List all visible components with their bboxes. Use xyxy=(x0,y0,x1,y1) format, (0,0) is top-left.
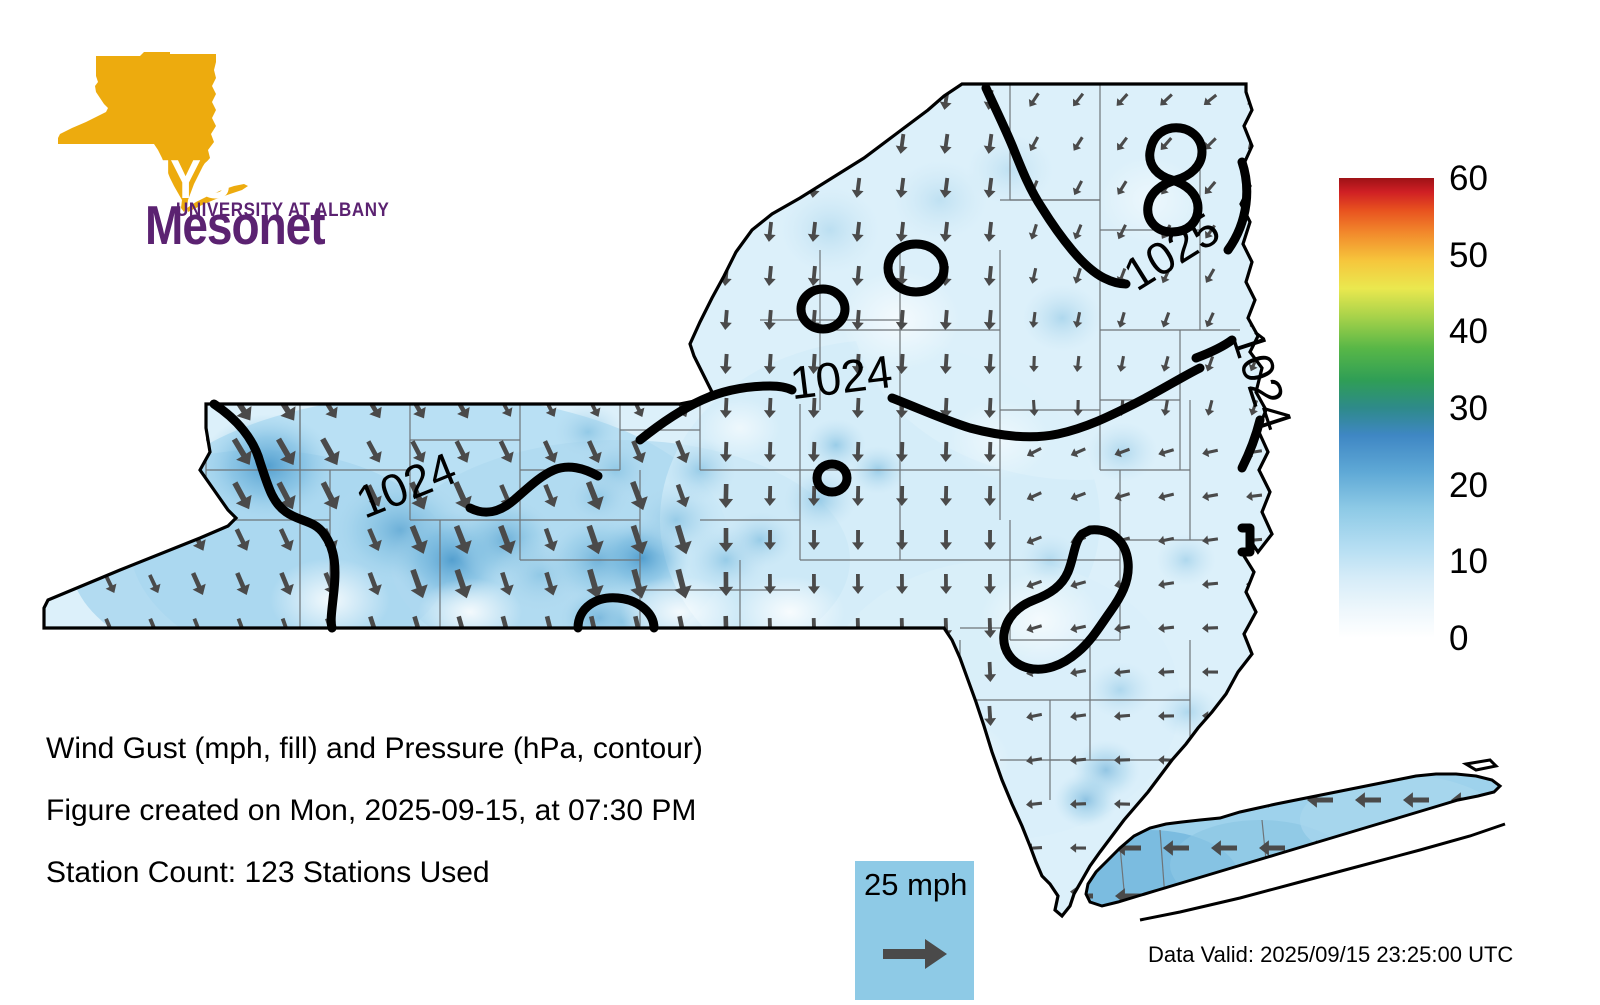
wind-vector xyxy=(940,662,952,682)
wind-vector xyxy=(1158,799,1174,809)
wind-vector xyxy=(234,311,248,328)
wind-vector xyxy=(984,838,996,858)
wind-vector xyxy=(675,660,689,684)
wind-vector xyxy=(498,136,513,152)
wind-vector xyxy=(543,311,556,329)
wind-vector xyxy=(720,662,732,682)
wind-vector xyxy=(984,794,996,814)
wind-vector xyxy=(146,355,160,372)
wind-vector xyxy=(764,662,776,682)
wind-vector xyxy=(542,179,557,195)
caption-title: Wind Gust (mph, fill) and Pressure (hPa,… xyxy=(46,718,946,780)
wind-vector xyxy=(367,355,380,373)
wind-vector xyxy=(146,528,161,550)
colorbar-tick-labels: 6050403020100 xyxy=(1449,178,1539,638)
wind-vector xyxy=(587,311,600,329)
wind-vector xyxy=(366,267,380,284)
wind-vector xyxy=(146,441,162,462)
wind-vector xyxy=(410,267,424,284)
wind-vector xyxy=(631,267,644,285)
wind-vector xyxy=(720,90,732,110)
wind-vector xyxy=(497,92,513,107)
wind-vector xyxy=(322,267,336,284)
wind-vector xyxy=(1211,792,1237,808)
wind-vector xyxy=(105,662,117,681)
wind-vector xyxy=(454,136,470,152)
wind-vector xyxy=(674,91,689,107)
wind-vector xyxy=(501,662,513,682)
wind-legend-label: 25 mph xyxy=(864,867,967,903)
wind-vector xyxy=(1026,887,1042,897)
wind-vector xyxy=(1355,840,1381,856)
wind-vector xyxy=(456,660,470,684)
data-valid-timestamp: Data Valid: 2025/09/15 23:25:00 UTC xyxy=(1148,942,1513,968)
wind-vector xyxy=(321,353,337,374)
wind-vector xyxy=(103,486,116,504)
wind-vector xyxy=(193,662,205,682)
wind-vector xyxy=(808,90,820,110)
wind-vector xyxy=(1246,667,1262,677)
colorbar-tick-60: 60 xyxy=(1449,161,1488,196)
wind-vector xyxy=(410,136,426,151)
colorbar-tick-50: 50 xyxy=(1449,238,1488,273)
wind-vector xyxy=(499,267,513,284)
wind-gust-colorbar xyxy=(1339,178,1434,638)
wind-vector xyxy=(984,882,996,902)
wind-vector xyxy=(1403,888,1429,904)
wind-vector xyxy=(189,397,205,418)
wind-vector xyxy=(234,267,249,283)
wind-vector xyxy=(102,268,117,284)
wind-vector xyxy=(190,311,204,328)
wind-vector xyxy=(586,92,602,108)
wind-vector xyxy=(367,311,381,328)
wind-vector xyxy=(896,662,908,682)
wind-vector xyxy=(630,179,644,196)
wind-vector xyxy=(764,178,776,198)
wind-vector xyxy=(674,179,688,196)
wind-vector xyxy=(542,92,558,107)
wind-vector xyxy=(189,353,206,374)
wind-vector xyxy=(455,311,469,329)
wind-vector xyxy=(1451,840,1477,856)
wind-vector xyxy=(499,311,512,329)
colorbar-gradient xyxy=(1339,178,1434,638)
wind-vector xyxy=(454,223,468,240)
wind-vector xyxy=(1202,755,1218,765)
wind-vector xyxy=(542,135,557,151)
wind-vector xyxy=(808,662,820,682)
wind-vector xyxy=(852,662,864,682)
wind-vector xyxy=(542,223,556,240)
wind-vector xyxy=(1307,888,1333,904)
wind-vector xyxy=(720,134,732,154)
wind-vector xyxy=(852,134,864,154)
wind-vector xyxy=(1355,888,1381,904)
wind-vector xyxy=(676,354,689,373)
wind-vector xyxy=(632,354,645,373)
colorbar-tick-30: 30 xyxy=(1449,391,1488,426)
wind-vector xyxy=(369,662,381,682)
wind-vector xyxy=(325,662,337,682)
wind-vector xyxy=(277,353,293,374)
wind-vector xyxy=(455,355,468,373)
wind-vector xyxy=(103,399,117,416)
caption-station-count: Station Count: 123 Stations Used xyxy=(46,842,946,904)
wind-vector xyxy=(588,660,602,684)
wind-vector xyxy=(102,355,116,372)
wind-vector xyxy=(720,178,732,198)
wind-vector xyxy=(675,310,688,328)
wind-vector xyxy=(587,267,601,285)
colorbar-tick-40: 40 xyxy=(1449,314,1488,349)
wind-vector xyxy=(412,660,426,684)
colorbar-tick-10: 10 xyxy=(1449,544,1488,579)
wind-vector xyxy=(190,484,206,506)
wind-vector xyxy=(1202,799,1218,809)
wind-vector xyxy=(498,179,513,195)
wind-vector xyxy=(146,485,162,507)
wind-vector xyxy=(1249,225,1260,238)
wind-vector xyxy=(278,311,292,328)
wind-vector xyxy=(631,660,645,684)
wind-vector xyxy=(101,224,117,239)
colorbar-tick-0: 0 xyxy=(1449,621,1468,656)
wind-vector xyxy=(896,90,908,110)
wind-vector xyxy=(852,90,864,110)
logo-subtitle: UNIVERSITY AT ALBANY xyxy=(176,198,389,222)
wind-vector xyxy=(587,354,600,372)
wind-vector xyxy=(145,397,161,418)
wind-vector xyxy=(454,267,468,284)
wind-vector xyxy=(720,222,732,242)
wind-vector xyxy=(631,223,645,240)
wind-vector xyxy=(808,134,820,154)
wind-vector xyxy=(1246,711,1262,721)
wind-vector xyxy=(409,92,425,107)
wind-vector xyxy=(498,223,512,240)
wind-vector xyxy=(190,441,206,463)
wind-vector xyxy=(1451,888,1477,904)
wind-vector xyxy=(1246,755,1262,764)
wind-vector xyxy=(454,179,469,195)
wind-vector xyxy=(281,662,292,682)
caption-created: Figure created on Mon, 2025-09-15, at 07… xyxy=(46,780,946,842)
wind-vector xyxy=(102,311,117,327)
wind-vector xyxy=(322,311,336,328)
nys-mesonet-logo: NYSMesonet UNIVERSITY AT ALBANY xyxy=(48,52,400,220)
wind-vector xyxy=(1163,888,1189,904)
wind-vector xyxy=(764,90,776,110)
wind-vector xyxy=(149,662,161,682)
wind-vector xyxy=(586,179,600,196)
wind-vector xyxy=(411,311,425,328)
wind-vector xyxy=(146,267,161,283)
wind-vector xyxy=(543,267,557,284)
wind-vector xyxy=(453,92,469,107)
wind-vector xyxy=(586,135,601,151)
colorbar-tick-20: 20 xyxy=(1449,468,1488,503)
wind-vector xyxy=(586,223,600,240)
wind-speed-legend: 25 mph xyxy=(855,861,974,1000)
wind-vector xyxy=(1163,792,1189,808)
wind-vector xyxy=(278,267,293,283)
wind-vector xyxy=(675,223,689,240)
wind-vector xyxy=(103,443,116,461)
wind-vector xyxy=(631,310,644,328)
wind-vector xyxy=(1202,887,1218,896)
wind-vector xyxy=(237,662,248,682)
wind-vector xyxy=(146,311,161,327)
wind-vector xyxy=(499,354,512,372)
wind-vector xyxy=(190,267,205,283)
wind-vector xyxy=(543,354,556,372)
wind-vector xyxy=(630,135,645,151)
wind-vector xyxy=(630,92,645,108)
wind-vector xyxy=(366,223,381,239)
figure-caption: Wind Gust (mph, fill) and Pressure (hPa,… xyxy=(46,718,946,904)
wind-vector xyxy=(104,530,117,549)
wind-vector xyxy=(764,134,776,154)
wind-vector xyxy=(410,223,425,239)
wind-vector xyxy=(410,179,425,195)
wind-vector xyxy=(411,355,424,373)
wind-vector xyxy=(233,353,250,374)
wind-vector xyxy=(544,660,558,684)
wind-vector xyxy=(675,267,688,285)
wind-vector xyxy=(674,135,689,151)
wind-arrow-icon xyxy=(883,937,949,971)
